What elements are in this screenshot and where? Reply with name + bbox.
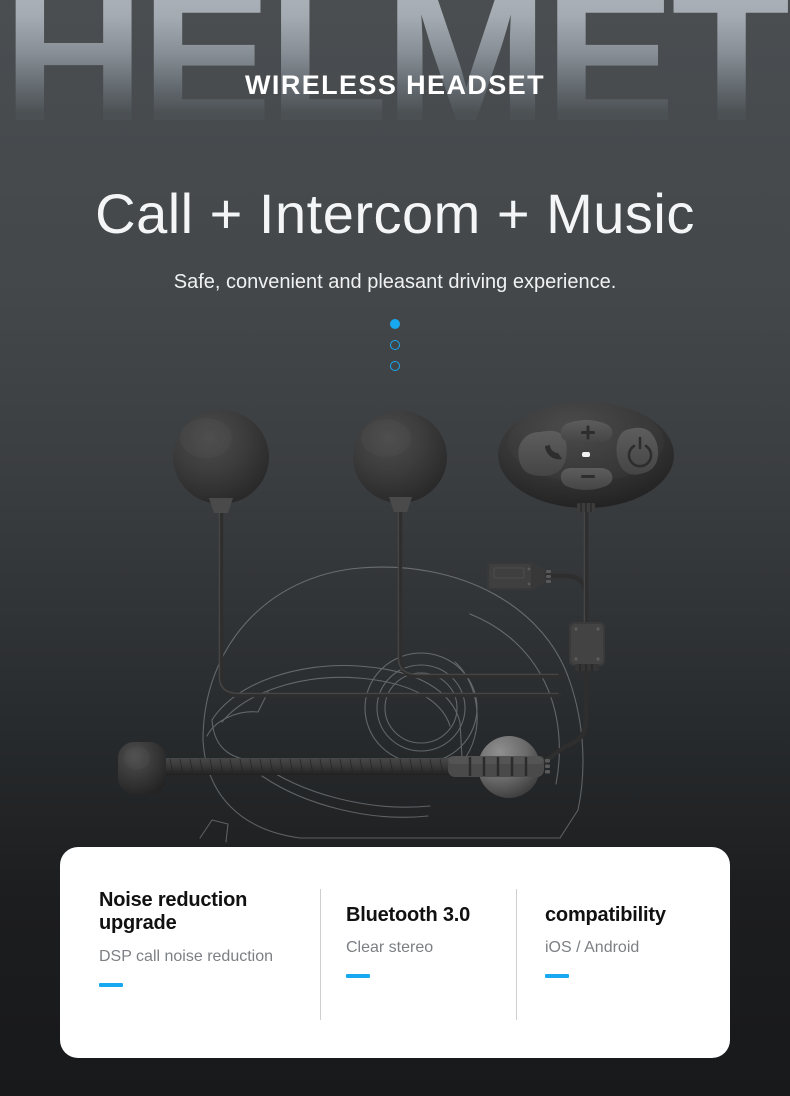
feature-bluetooth: Bluetooth 3.0 Clear stereo [320,889,516,1020]
feature-title: Noise reduction upgrade [99,889,320,935]
page-kicker: WIRELESS HEADSET [0,70,790,101]
feature-title: compatibility [545,904,730,927]
control-pod [498,402,674,512]
speaker-right [353,411,447,512]
feature-subtitle: iOS / Android [545,939,730,957]
cable-junction-box [569,622,605,671]
product-banner: HELMET WIRELESS HEADSET Call + Intercom … [0,0,790,1096]
product-image [0,390,790,860]
feature-subtitle: DSP call noise reduction [99,948,320,966]
feature-title: Bluetooth 3.0 [346,904,516,927]
carousel-dot-3[interactable] [390,361,400,371]
usb-connector [487,562,551,590]
feature-accent-rule [545,974,569,978]
feature-accent-rule [346,974,370,978]
feature-noise-reduction: Noise reduction upgrade DSP call noise r… [60,889,320,1020]
feature-compatibility: compatibility iOS / Android [516,889,730,1020]
background-watermark: HELMET [0,0,790,210]
power-button [617,428,659,475]
carousel-dot-1[interactable] [390,319,400,329]
carousel-dot-2[interactable] [390,340,400,350]
status-led [582,452,590,457]
feature-subtitle: Clear stereo [346,939,516,957]
carousel-dots[interactable] [0,319,790,371]
call-button [518,431,566,476]
feature-card: Noise reduction upgrade DSP call noise r… [60,847,730,1058]
microphone-boom [118,736,550,798]
page-subtitle: Safe, convenient and pleasant driving ex… [0,271,790,294]
feature-accent-rule [99,983,123,987]
speaker-left [173,410,269,513]
page-title: Call + Intercom + Music [0,181,790,246]
helmet-wireframe [200,567,583,842]
